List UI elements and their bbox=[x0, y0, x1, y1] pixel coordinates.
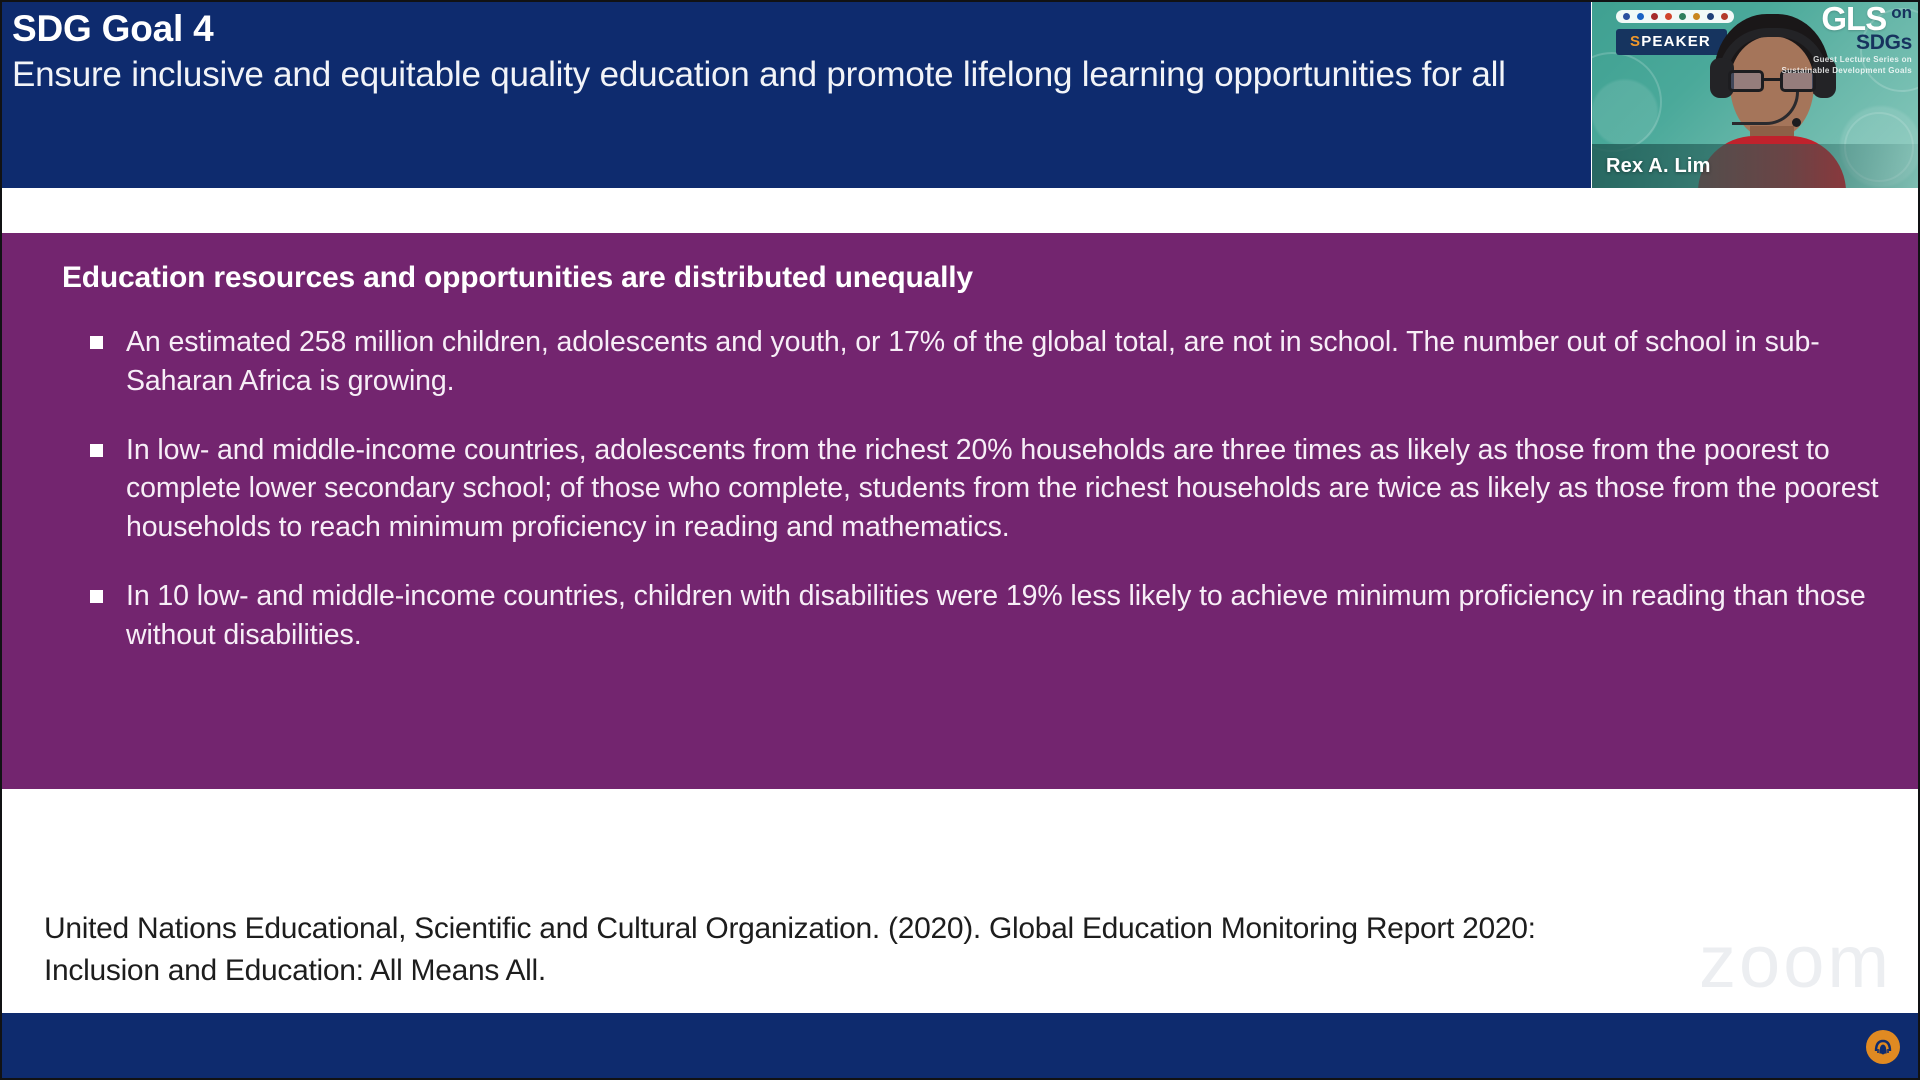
brand-subtitle-line1: Guest Lecture Series on bbox=[1781, 56, 1912, 64]
speaker-badge-accent: S bbox=[1630, 33, 1641, 50]
list-item-text: In 10 low- and middle-income countries, … bbox=[126, 580, 1866, 651]
zoom-watermark: zoom bbox=[1699, 925, 1892, 999]
list-item-text: In low- and middle-income countries, ado… bbox=[126, 434, 1879, 544]
brand-on: on bbox=[1891, 4, 1912, 21]
microphone-icon bbox=[1792, 118, 1801, 127]
list-item: An estimated 258 million children, adole… bbox=[62, 323, 1880, 401]
lens-bridge bbox=[1764, 78, 1780, 81]
card-heading: Education resources and opportunities ar… bbox=[62, 261, 1880, 295]
participant-name-label: Rex A. Lim bbox=[1606, 155, 1711, 178]
header-gap-divider bbox=[0, 188, 1920, 233]
event-branding: GLSon SDGs Guest Lecture Series on Susta… bbox=[1781, 2, 1912, 75]
zoom-meeting-screen: SDG Goal 4 Ensure inclusive and equitabl… bbox=[0, 0, 1920, 1080]
list-item: In low- and middle-income countries, ado… bbox=[62, 431, 1880, 547]
content-card: Education resources and opportunities ar… bbox=[0, 233, 1920, 789]
bullet-list: An estimated 258 million children, adole… bbox=[62, 323, 1880, 654]
video-participant-tile[interactable]: SPEAKER GLSon SDGs Guest Lecture Series … bbox=[1591, 0, 1920, 189]
brand-subtitle-line2: Sustainable Development Goals bbox=[1781, 67, 1912, 75]
orange-circle-logo-icon bbox=[1866, 1030, 1900, 1064]
square-bullet-icon bbox=[90, 336, 103, 349]
lens-left bbox=[1728, 70, 1764, 92]
list-item-text: An estimated 258 million children, adole… bbox=[126, 326, 1820, 397]
list-item: In 10 low- and middle-income countries, … bbox=[62, 577, 1880, 655]
square-bullet-icon bbox=[90, 590, 103, 603]
citation-text: United Nations Educational, Scientific a… bbox=[44, 908, 1544, 992]
square-bullet-icon bbox=[90, 444, 103, 457]
slide-footer-band bbox=[0, 1013, 1920, 1080]
